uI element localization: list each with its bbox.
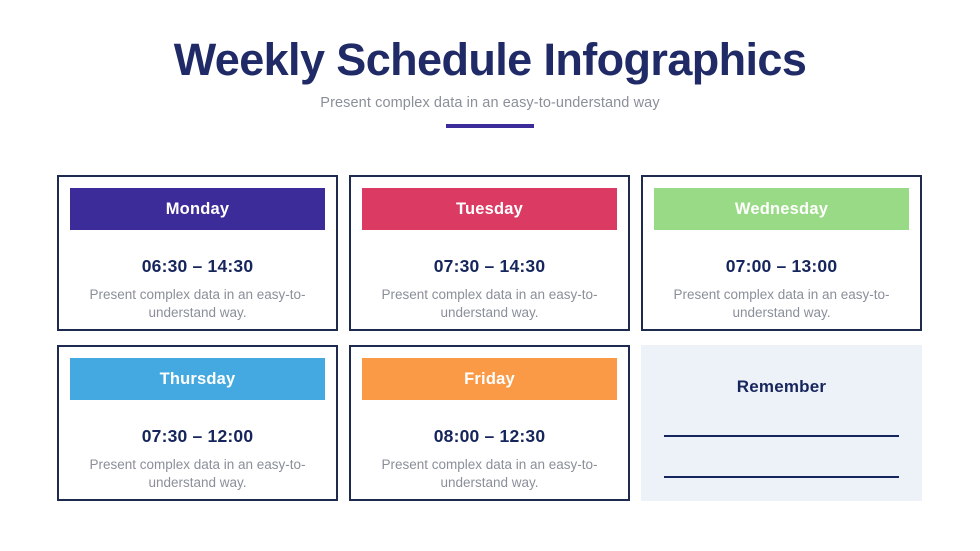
remember-panel[interactable]: Remember	[641, 345, 922, 501]
day-time-range: 08:00 – 12:30	[362, 426, 617, 447]
day-card-friday[interactable]: Friday 08:00 – 12:30 Present complex dat…	[349, 345, 630, 501]
day-description: Present complex data in an easy-to-under…	[362, 456, 617, 492]
day-band-friday: Friday	[362, 358, 617, 400]
day-card-thursday[interactable]: Thursday 07:30 – 12:00 Present complex d…	[57, 345, 338, 501]
day-description: Present complex data in an easy-to-under…	[362, 286, 617, 322]
day-time-range: 06:30 – 14:30	[70, 256, 325, 277]
remember-title: Remember	[663, 377, 900, 397]
day-description: Present complex data in an easy-to-under…	[70, 286, 325, 322]
day-band-monday: Monday	[70, 188, 325, 230]
day-label: Thursday	[160, 370, 236, 389]
day-time-range: 07:00 – 13:00	[654, 256, 909, 277]
day-description: Present complex data in an easy-to-under…	[70, 456, 325, 492]
slide-header: Weekly Schedule Infographics Present com…	[0, 36, 980, 128]
accent-bar-divider	[446, 124, 534, 128]
day-card-monday[interactable]: Monday 06:30 – 14:30 Present complex dat…	[57, 175, 338, 331]
day-label: Wednesday	[735, 200, 828, 219]
day-label: Tuesday	[456, 200, 523, 219]
day-band-thursday: Thursday	[70, 358, 325, 400]
remember-note-line-1[interactable]	[664, 435, 899, 437]
page-title: Weekly Schedule Infographics	[0, 36, 980, 83]
schedule-grid: Monday 06:30 – 14:30 Present complex dat…	[57, 175, 923, 501]
day-card-tuesday[interactable]: Tuesday 07:30 – 14:30 Present complex da…	[349, 175, 630, 331]
day-band-tuesday: Tuesday	[362, 188, 617, 230]
day-card-wednesday[interactable]: Wednesday 07:00 – 13:00 Present complex …	[641, 175, 922, 331]
day-band-wednesday: Wednesday	[654, 188, 909, 230]
day-description: Present complex data in an easy-to-under…	[654, 286, 909, 322]
day-label: Friday	[464, 370, 515, 389]
day-label: Monday	[166, 200, 230, 219]
day-time-range: 07:30 – 12:00	[70, 426, 325, 447]
page-subtitle: Present complex data in an easy-to-under…	[0, 95, 980, 111]
slide-canvas: Weekly Schedule Infographics Present com…	[0, 0, 980, 551]
day-time-range: 07:30 – 14:30	[362, 256, 617, 277]
remember-note-line-2[interactable]	[664, 476, 899, 478]
